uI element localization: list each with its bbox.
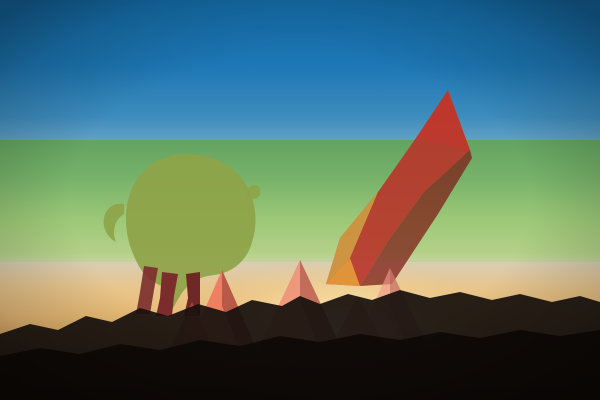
candlestick-chart-bottom <box>0 300 600 400</box>
candlestick-chart-top <box>0 0 600 146</box>
banner-image <box>0 0 600 400</box>
